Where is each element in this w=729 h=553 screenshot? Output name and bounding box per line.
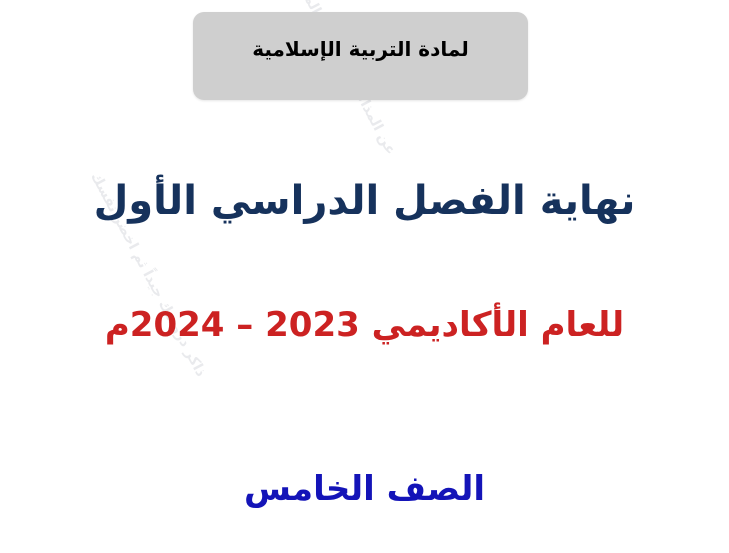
subject-banner: لمادة التربية الإسلامية — [193, 12, 528, 100]
academic-year-line: للعام الأكاديمي 2023 – 2024م — [0, 306, 729, 345]
grade-level-line: الصف الخامس — [0, 470, 729, 509]
exam-cover-page: أخي الطالب هذه الأسئلة الأكثر تكراراً لا… — [0, 0, 729, 553]
subject-label: لمادة التربية الإسلامية — [252, 38, 469, 60]
document-content: لمادة التربية الإسلامية نهاية الفصل الدر… — [0, 0, 729, 553]
semester-title: نهاية الفصل الدراسي الأول — [0, 178, 729, 224]
